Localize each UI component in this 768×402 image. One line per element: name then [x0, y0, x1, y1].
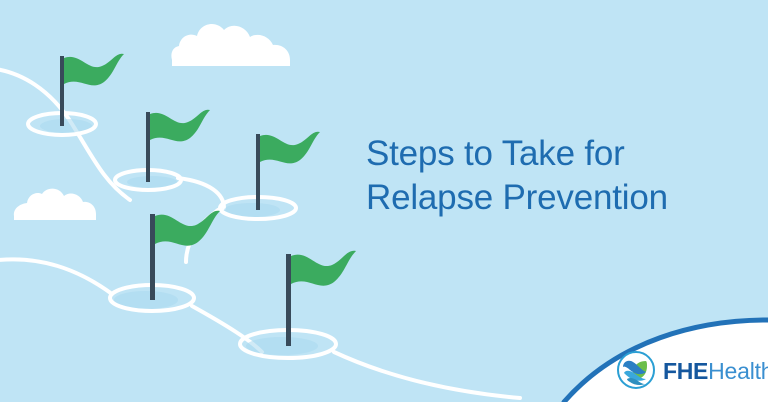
- flag-pole-icon: [286, 254, 291, 346]
- flag-banner-icon: [155, 211, 220, 246]
- path-segment-3: [0, 259, 112, 294]
- path-segment-5: [334, 352, 520, 398]
- flag-banner-icon: [64, 54, 124, 86]
- flag-pole-icon: [150, 214, 155, 300]
- brand-name-bold: FHE: [663, 358, 708, 384]
- headline-line-2: Relapse Prevention: [366, 176, 746, 220]
- banner-root: Steps to Take for Relapse Prevention FHE…: [0, 0, 768, 402]
- page-title: Steps to Take for Relapse Prevention: [366, 132, 746, 220]
- hole-shadow-5: [246, 337, 318, 355]
- brand-wordmark: FHEHealth: [663, 360, 768, 383]
- flag-pole-icon: [60, 56, 64, 126]
- cloud-top: [171, 24, 290, 66]
- flag-banner-icon: [150, 110, 210, 142]
- fhe-health-logo-icon: [616, 350, 656, 390]
- path-segment-2: [178, 178, 224, 208]
- flag-banner-icon: [260, 132, 320, 164]
- flag-pole-icon: [256, 134, 260, 210]
- flag-pole-icon: [146, 112, 150, 182]
- brand-logo[interactable]: FHEHealth: [616, 350, 768, 390]
- brand-name-light: Health: [708, 358, 768, 384]
- flag-banner-icon: [291, 251, 356, 286]
- headline-line-1: Steps to Take for: [366, 132, 746, 176]
- cloud-left: [14, 189, 96, 220]
